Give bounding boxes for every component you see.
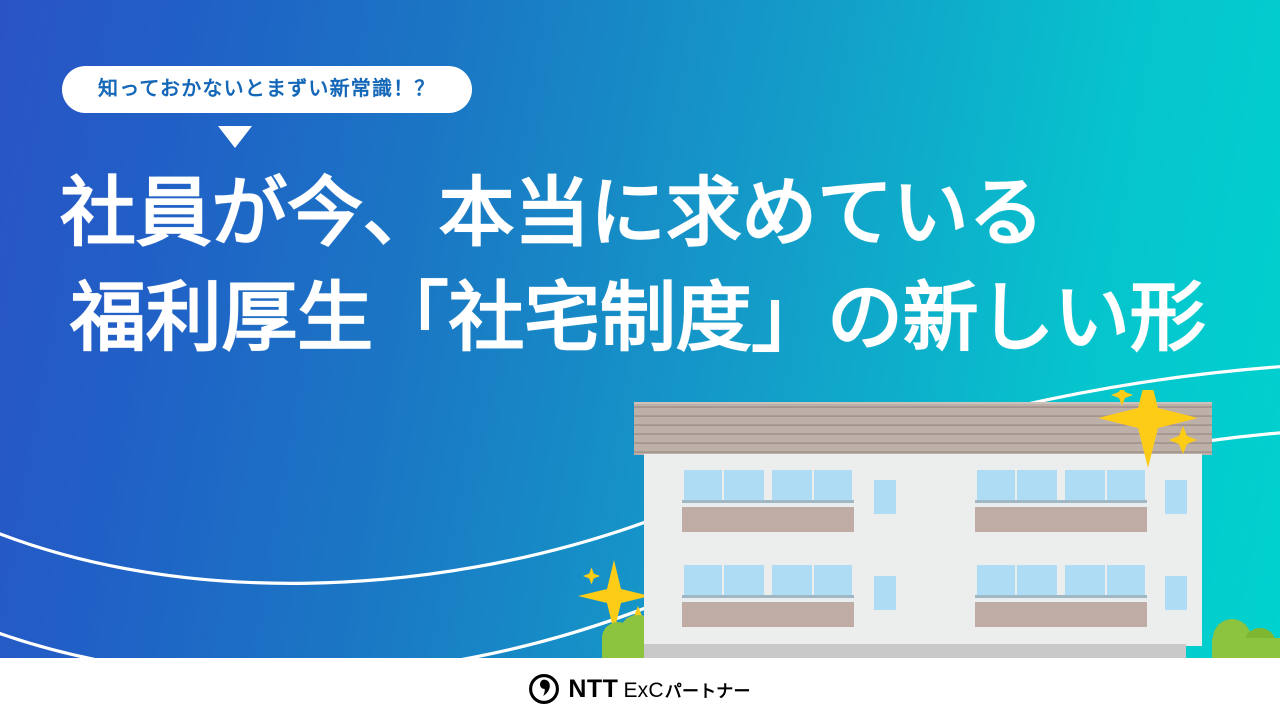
hero-banner: 知っておかないとまずい新常識！？ 社員が今、本当に求めている 福利厚生「社宅制度… [0,0,1280,658]
badge-text: 知っておかないとまずい新常識！？ [98,77,436,101]
page-title-line-2: 福利厚生「社宅制度」の新しい形 [70,267,1205,372]
badge-bubble-tail [218,126,252,148]
window-upper-right [1165,480,1187,514]
ntt-logo-wordmark: NTT ExC パートナー [568,675,750,704]
logo-exc-text: ExC [623,679,663,703]
window-lower-center [874,576,896,610]
poster-canvas: 知っておかないとまずい新常識！？ 社員が今、本当に求めている 福利厚生「社宅制度… [0,0,1280,720]
ntt-exc-partner-logo: NTT ExC パートナー [529,674,750,704]
ntt-logo-mark-icon [529,674,559,704]
logo-ntt-text: NTT [568,675,618,704]
window-upper-center [874,480,896,514]
footer-bar: NTT ExC パートナー [0,658,1280,720]
badge-callout: 知っておかないとまずい新常識！？ [62,66,472,113]
page-title: 社員が今、本当に求めている 福利厚生「社宅制度」の新しい形 [60,162,1205,372]
page-title-line-1: 社員が今、本当に求めている [60,162,1205,267]
window-lower-right [1165,576,1187,610]
bush-right [1212,619,1280,658]
logo-partner-text: パートナー [665,677,751,702]
apartment-building-illustration [620,390,1280,658]
badge-bubble: 知っておかないとまずい新常識！？ [62,66,472,113]
building-roof [634,402,1212,455]
ground-strip [644,644,1186,658]
